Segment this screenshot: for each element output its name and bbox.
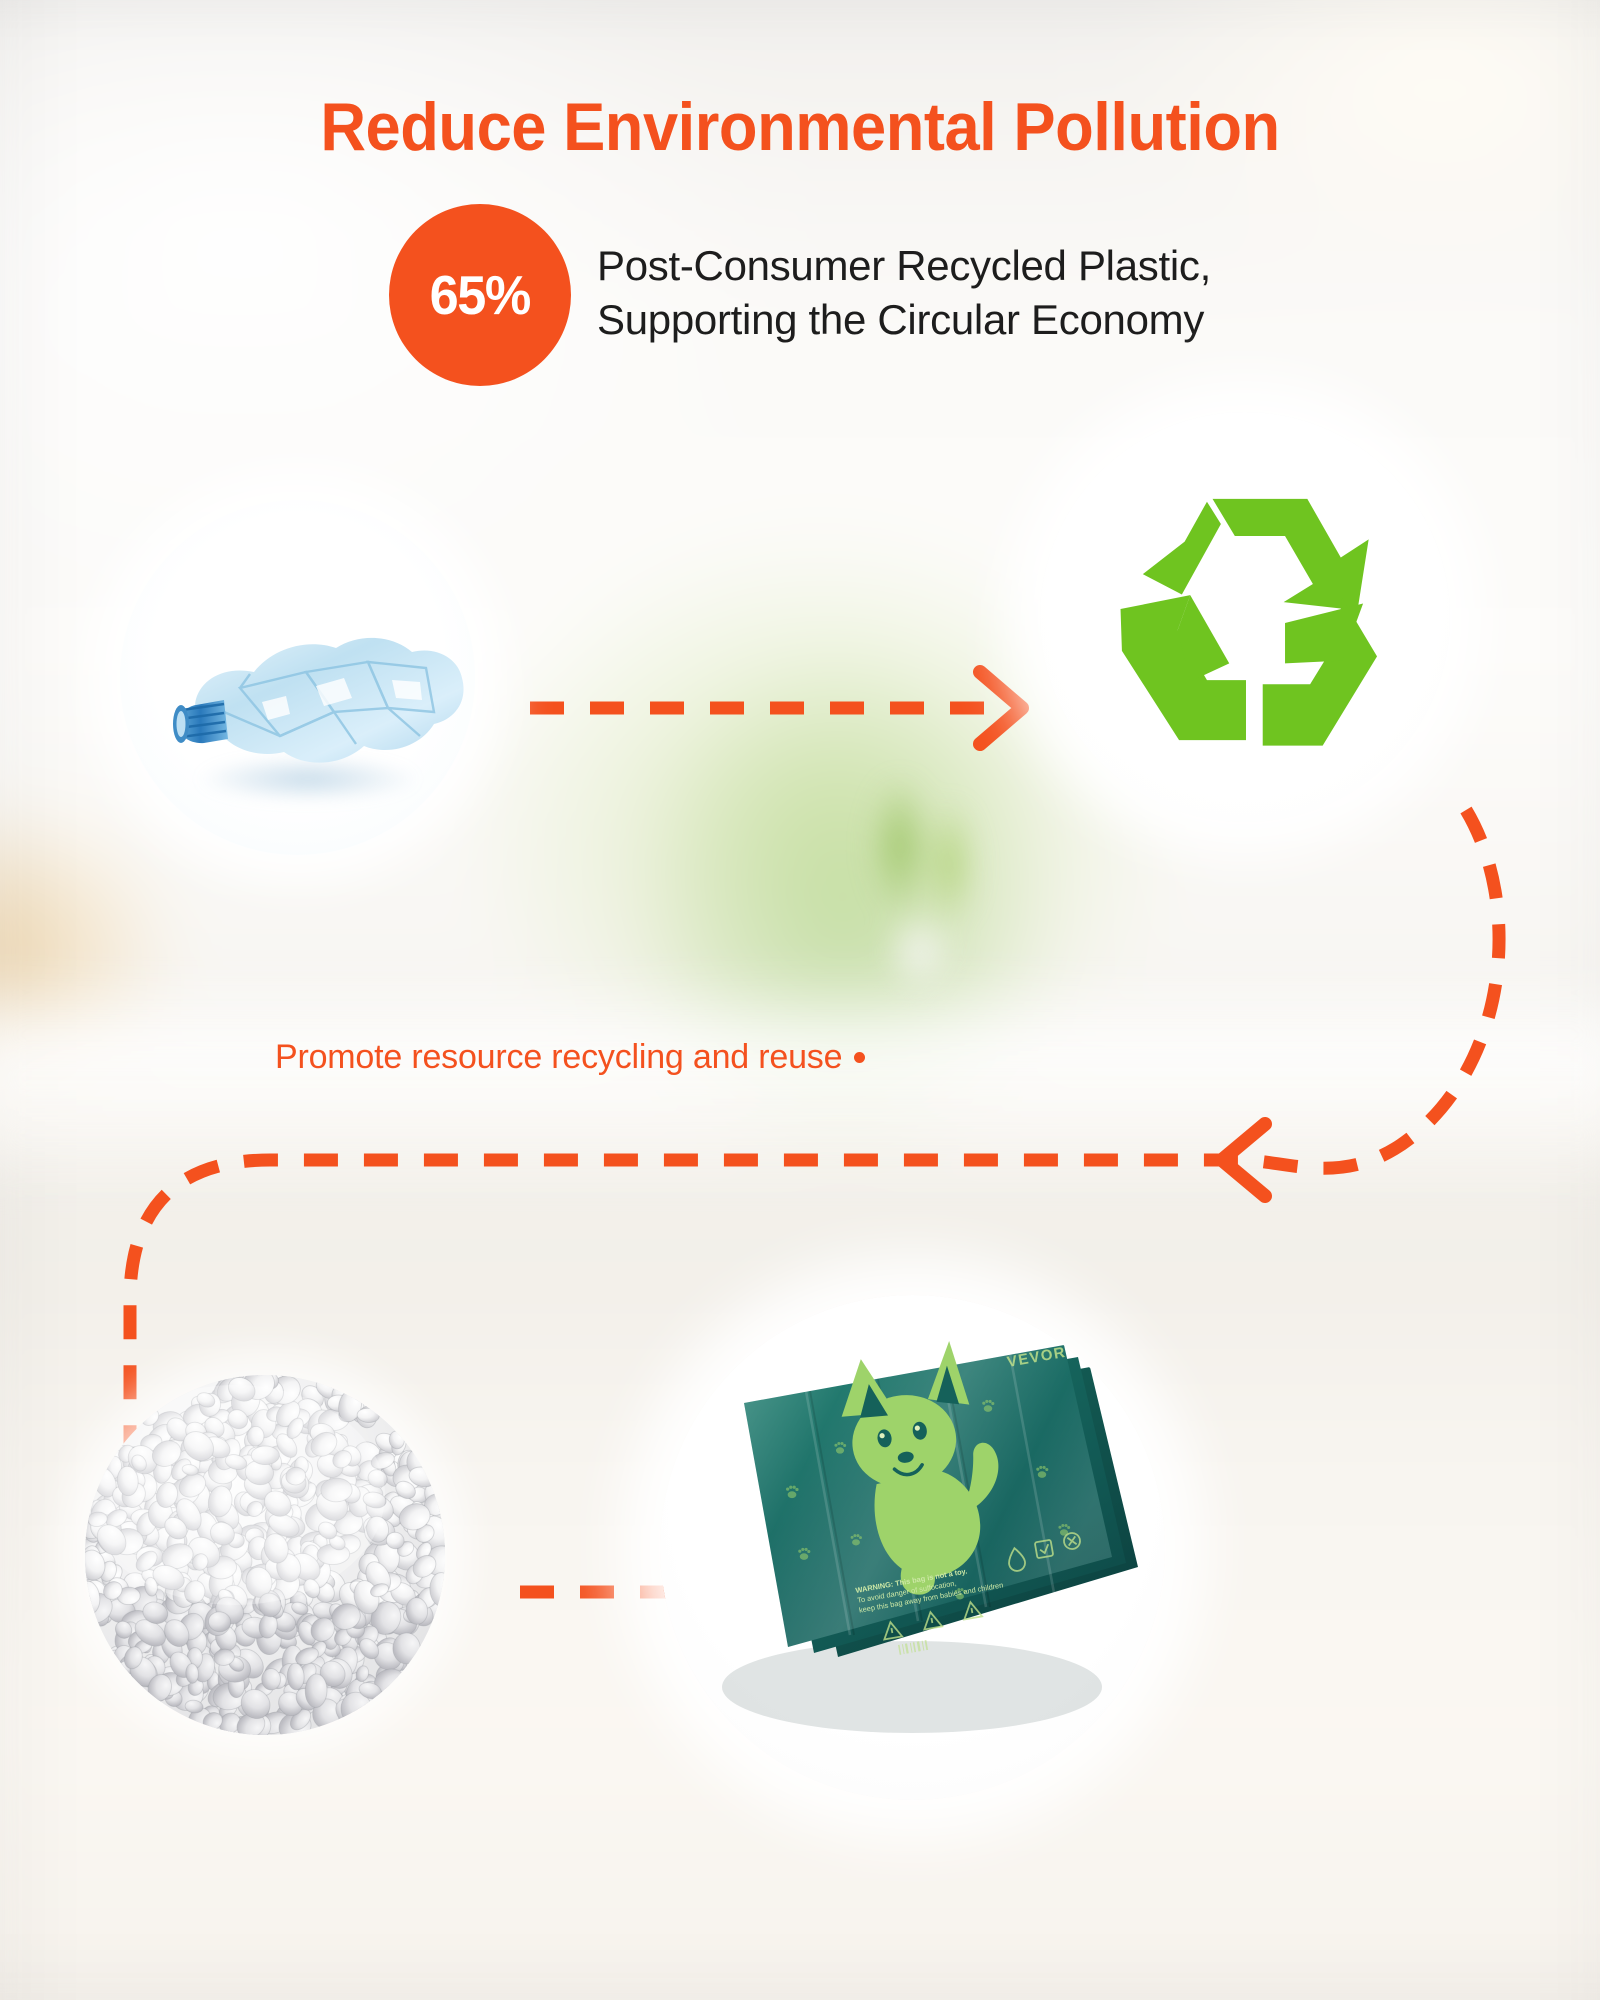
background-plant: [820, 780, 1020, 1000]
page-title: Reduce Environmental Pollution: [56, 92, 1544, 163]
node-recycle-symbol: [1040, 412, 1450, 822]
infographic-canvas: Reduce Environmental Pollution 65% Post-…: [0, 0, 1600, 2000]
pet-waste-bags-icon: VEVOR: [660, 1295, 1165, 1800]
header-subrow: 65% Post-Consumer Recycled Plastic, Supp…: [0, 200, 1600, 386]
recycle-icon: [1097, 478, 1392, 757]
bag-front: VEVOR: [744, 1336, 1112, 1654]
node-resin-pellets: [85, 1375, 445, 1735]
flow-caption-text: Promote resource recycling and reuse: [275, 1038, 842, 1076]
percentage-badge: 65%: [389, 204, 571, 386]
page-subtitle: Post-Consumer Recycled Plastic, Supporti…: [597, 239, 1211, 347]
resin-pellets-icon: [85, 1375, 445, 1735]
flow-caption: Promote resource recycling and reuse: [275, 1038, 865, 1077]
crushed-plastic-bottle-icon: [120, 500, 475, 855]
node-pet-waste-bags: VEVOR: [660, 1295, 1165, 1800]
node-waste-bottle: [120, 500, 475, 855]
percentage-badge-value: 65%: [430, 263, 530, 327]
flow-caption-bullet: [854, 1052, 865, 1063]
